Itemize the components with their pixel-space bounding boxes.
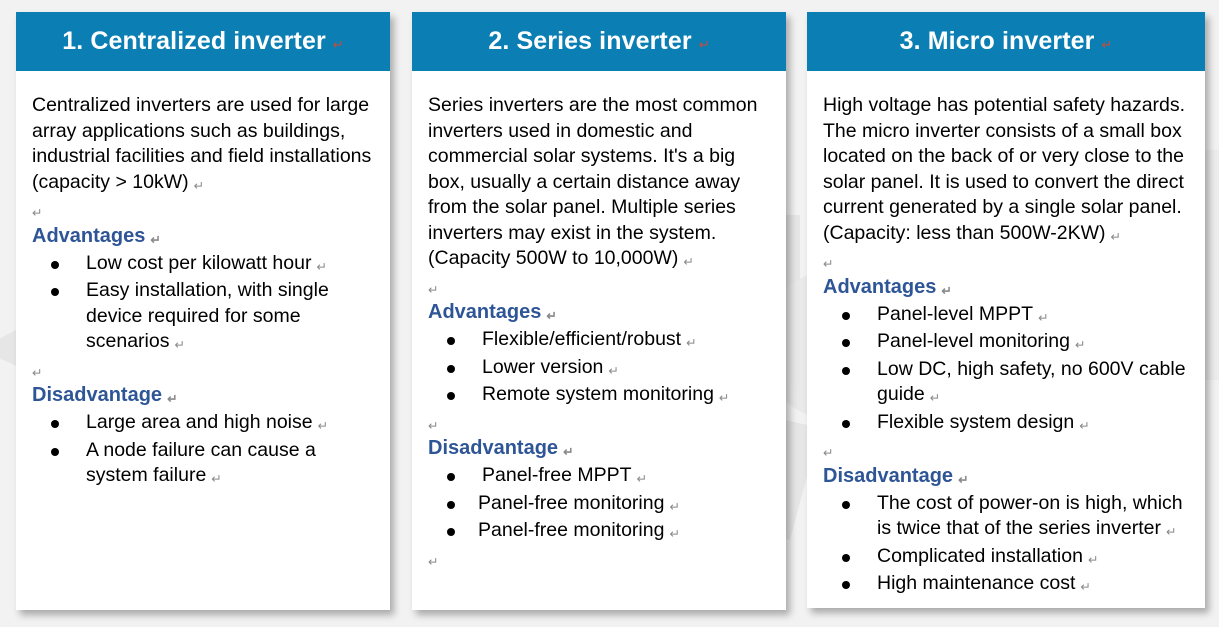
disadvantage-heading: Disadvantage↵: [428, 435, 772, 463]
list-item: Lower version↵: [428, 355, 772, 383]
spacer-line: ↵: [823, 437, 1187, 463]
paragraph-return-icon: ↵: [1101, 37, 1112, 53]
paragraph-return-icon: ↵: [1088, 553, 1098, 567]
list-item-label: Easy installation, with single device re…: [86, 279, 329, 352]
list-item: Panel-free monitoring↵: [428, 518, 772, 546]
list-item-label: Panel-level monitoring: [877, 330, 1070, 352]
paragraph-return-icon: ↵: [428, 419, 438, 433]
paragraph-return-icon: ↵: [1080, 580, 1090, 594]
paragraph-return-icon: ↵: [823, 257, 833, 271]
paragraph-return-icon: ↵: [174, 338, 184, 352]
disadvantage-heading: Disadvantage↵: [823, 463, 1187, 491]
card-title-micro: 3. Micro inverter: [900, 27, 1095, 56]
spacer-line: ↵: [428, 546, 772, 572]
paragraph-return-icon: ↵: [823, 446, 833, 460]
list-item-label: Flexible system design: [877, 411, 1074, 433]
paragraph-return-icon: ↵: [1075, 338, 1085, 352]
list-item-label: Panel-free MPPT: [482, 464, 632, 486]
list-item: The cost of power-on is high, which is t…: [823, 491, 1187, 544]
card-header-centralized: 1. Centralized inverter ↵: [16, 12, 390, 71]
inverter-card-series: 2. Series inverter ↵ Series inverters ar…: [412, 12, 786, 610]
advantages-list: Panel-level MPPT↵ Panel-level monitoring…: [823, 302, 1187, 438]
paragraph-return-icon: ↵: [1079, 419, 1089, 433]
paragraph-return-icon: ↵: [637, 472, 647, 486]
paragraph-return-icon: ↵: [316, 260, 326, 274]
list-item-label: Lower version: [482, 356, 603, 378]
list-item-label: Complicated installation: [877, 545, 1083, 567]
list-item: Low DC, high safety, no 600V cable guide…: [823, 357, 1187, 410]
list-item-label: High maintenance cost: [877, 572, 1075, 594]
advantages-heading-label: Advantages: [428, 301, 541, 323]
paragraph-return-icon: ↵: [32, 366, 42, 380]
paragraph-return-icon: ↵: [167, 392, 177, 406]
paragraph-return-icon: ↵: [608, 364, 618, 378]
paragraph-return-icon: ↵: [930, 391, 940, 405]
list-item-label: A node failure can cause a system failur…: [86, 439, 316, 487]
paragraph-return-icon: ↵: [719, 391, 729, 405]
spacer-line: ↵: [32, 197, 376, 223]
inverter-card-micro: 3. Micro inverter ↵ High voltage has pot…: [807, 12, 1205, 608]
paragraph-return-icon: ↵: [669, 527, 679, 541]
disadvantages-list: Panel-free MPPT↵ Panel-free monitoring↵ …: [428, 463, 772, 546]
list-item: Flexible/efficient/robust↵: [428, 327, 772, 355]
inverter-card-centralized: 1. Centralized inverter ↵ Centralized in…: [16, 12, 390, 610]
paragraph-return-icon: ↵: [941, 284, 951, 298]
card-title-centralized: 1. Centralized inverter: [62, 27, 326, 56]
card-header-series: 2. Series inverter ↵: [412, 12, 786, 71]
spacer-line: ↵: [32, 357, 376, 383]
list-item-label: Panel-free monitoring: [478, 492, 664, 514]
paragraph-return-icon: ↵: [669, 500, 679, 514]
advantages-list: Flexible/efficient/robust↵ Lower version…: [428, 327, 772, 410]
paragraph-return-icon: ↵: [546, 309, 556, 323]
paragraph-return-icon: ↵: [686, 336, 696, 350]
paragraph-return-icon: ↵: [683, 255, 693, 269]
list-item-label: The cost of power-on is high, which is t…: [877, 492, 1183, 540]
disadvantages-list: The cost of power-on is high, which is t…: [823, 491, 1187, 599]
list-item-label: Large area and high noise: [86, 411, 313, 433]
list-item: Panel-level monitoring↵: [823, 329, 1187, 357]
list-item-label: Low DC, high safety, no 600V cable guide: [877, 358, 1186, 406]
list-item: Complicated installation↵: [823, 544, 1187, 572]
list-item: Remote system monitoring↵: [428, 382, 772, 410]
list-item-label: Flexible/efficient/robust: [482, 328, 681, 350]
paragraph-return-icon: ↵: [1166, 525, 1176, 539]
list-item-label: Panel-level MPPT: [877, 303, 1033, 325]
card-body-micro: High voltage has potential safety hazard…: [807, 71, 1205, 609]
list-item: Panel-free monitoring↵: [428, 491, 772, 519]
card-intro-value: Centralized inverters are used for large…: [32, 94, 371, 193]
list-item-label: Low cost per kilowatt hour: [86, 252, 311, 274]
list-item: High maintenance cost↵: [823, 571, 1187, 599]
paragraph-return-icon: ↵: [428, 283, 438, 297]
disadvantage-heading-label: Disadvantage: [32, 384, 162, 406]
advantages-heading-label: Advantages: [823, 276, 936, 298]
spacer-line: ↵: [823, 248, 1187, 274]
paragraph-return-icon: ↵: [318, 419, 328, 433]
spacer-line: ↵: [428, 274, 772, 300]
paragraph-return-icon: ↵: [194, 179, 204, 193]
card-intro-text: High voltage has potential safety hazard…: [823, 93, 1187, 248]
spacer-line: ↵: [428, 410, 772, 436]
paragraph-return-icon: ↵: [563, 445, 573, 459]
advantages-heading-label: Advantages: [32, 225, 145, 247]
list-item: Panel-free MPPT↵: [428, 463, 772, 491]
card-intro-text: Series inverters are the most common inv…: [428, 93, 772, 274]
paragraph-return-icon: ↵: [1038, 311, 1048, 325]
disadvantages-list: Large area and high noise↵ A node failur…: [32, 410, 376, 491]
advantages-heading: Advantages↵: [823, 274, 1187, 302]
disadvantage-heading-label: Disadvantage: [428, 437, 558, 459]
paragraph-return-icon: ↵: [428, 555, 438, 569]
list-item: Flexible system design↵: [823, 410, 1187, 438]
paragraph-return-icon: ↵: [1111, 230, 1121, 244]
paragraph-return-icon: ↵: [211, 472, 221, 486]
paragraph-return-icon: ↵: [150, 233, 160, 247]
paragraph-return-icon: ↵: [32, 206, 42, 220]
list-item-label: Remote system monitoring: [482, 383, 714, 405]
advantages-heading: Advantages↵: [32, 223, 376, 251]
card-intro-value: High voltage has potential safety hazard…: [823, 94, 1185, 244]
advantages-heading: Advantages↵: [428, 299, 772, 327]
card-body-centralized: Centralized inverters are used for large…: [16, 71, 390, 501]
paragraph-return-icon: ↵: [958, 473, 968, 487]
disadvantage-heading-label: Disadvantage: [823, 465, 953, 487]
disadvantage-heading: Disadvantage↵: [32, 382, 376, 410]
list-item: Easy installation, with single device re…: [32, 278, 376, 357]
card-intro-value: Series inverters are the most common inv…: [428, 94, 757, 269]
card-header-micro: 3. Micro inverter ↵: [807, 12, 1205, 71]
list-item: Low cost per kilowatt hour↵: [32, 251, 376, 279]
list-item: Panel-level MPPT↵: [823, 302, 1187, 330]
paragraph-return-icon: ↵: [699, 37, 710, 53]
advantages-list: Low cost per kilowatt hour↵ Easy install…: [32, 251, 376, 357]
list-item: A node failure can cause a system failur…: [32, 438, 376, 491]
card-title-series: 2. Series inverter: [488, 27, 691, 56]
card-intro-text: Centralized inverters are used for large…: [32, 93, 376, 197]
inverter-comparison-board: 1. Centralized inverter ↵ Centralized in…: [0, 0, 1219, 627]
paragraph-return-icon: ↵: [333, 37, 344, 53]
card-body-series: Series inverters are the most common inv…: [412, 71, 786, 581]
list-item: Large area and high noise↵: [32, 410, 376, 438]
list-item-label: Panel-free monitoring: [478, 519, 664, 541]
